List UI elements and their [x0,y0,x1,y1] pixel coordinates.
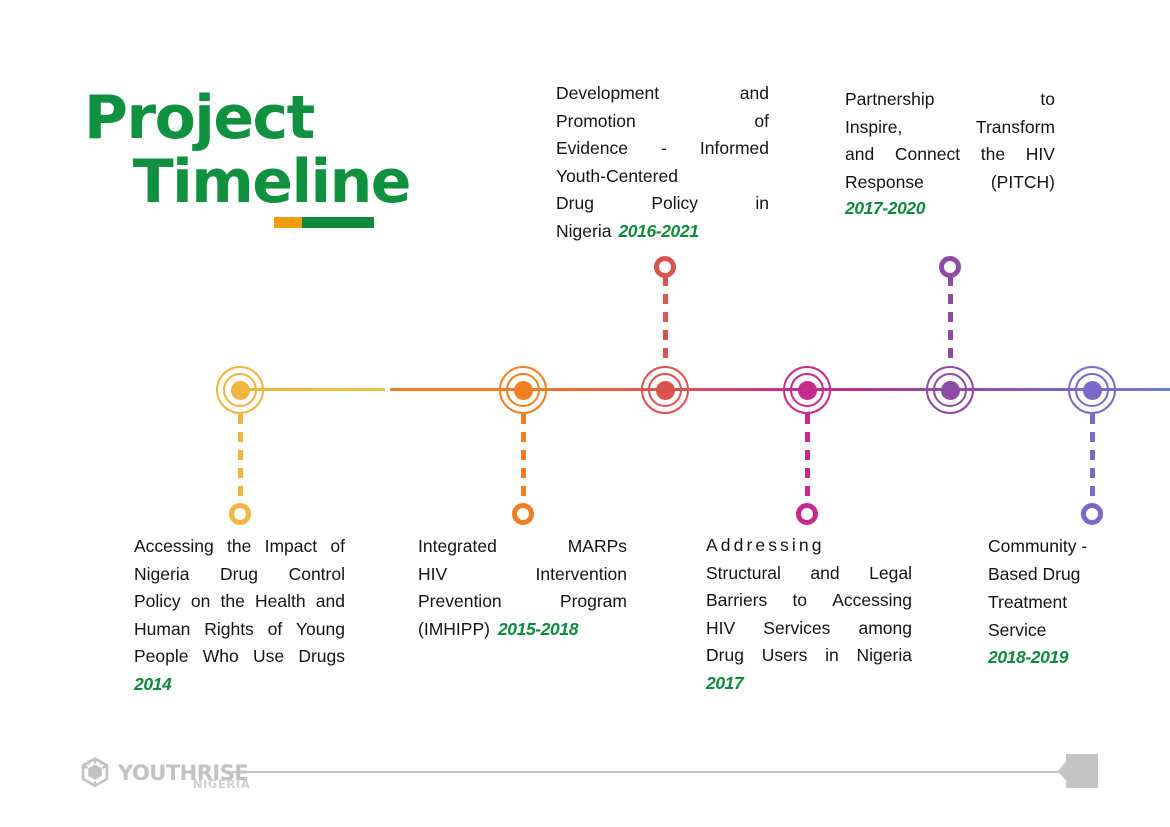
milestone-3-line-5: DrugPolicyin [556,190,769,218]
connector-1 [239,414,241,506]
connector-6 [1091,414,1093,506]
milestone-label-6-block: Community - Based Drug Treatment Service… [988,532,1158,670]
milestone-6-line-2: Based Drug [988,560,1158,588]
page-title-line-2: Timeline [84,150,414,214]
milestone-5-line-2: Inspire,Transform [845,114,1055,142]
timeline-marker-3[interactable] [637,362,693,418]
timeline-marker-1[interactable] [212,362,268,418]
timeline-axis [0,387,1170,393]
milestone-5-line-4: Response(PITCH) [845,169,1055,197]
connector-2 [522,414,524,506]
milestone-1-year: 2014 [134,671,345,697]
title-accent-green [302,217,374,228]
milestone-5-line-3: andConnecttheHIV [845,141,1055,169]
youthrise-logo: YOUTHRISE NIGERIA [78,756,248,790]
connector-pin-3 [654,256,676,278]
timeline-marker-6[interactable] [1064,362,1120,418]
connector-dashes [663,276,668,368]
marker-core [514,381,533,400]
milestone-4-line-2: StructuralandLegal [706,560,912,588]
youthrise-wordmark-sub: NIGERIA [193,779,250,791]
connector-pin-6 [1081,503,1103,525]
marker-core [798,381,817,400]
milestone-1-line-3: PolicyontheHealthand [134,588,345,616]
timeline-marker-4[interactable] [779,362,835,418]
timeline-marker-2[interactable] [495,362,551,418]
connector-dashes [521,414,526,506]
milestone-2-line-3: PreventionProgram [418,588,627,616]
connector-pin-4 [796,503,818,525]
connector-dashes [948,276,953,368]
connector-dashes [238,414,243,506]
milestone-5-line-1: Partnershipto [845,86,1055,114]
milestone-label-4-block: Addressing StructuralandLegal Barriersto… [706,532,912,696]
milestone-3-line-2: Promotionof [556,108,769,136]
milestone-3-year: 2016-2021 [618,218,698,246]
marker-core [231,381,250,400]
connector-5 [949,276,951,368]
milestone-label-5-block: Partnershipto Inspire,Transform andConne… [845,86,1055,220]
connector-3 [664,276,666,368]
youthrise-wordmark: YOUTHRISE NIGERIA [118,763,248,784]
milestone-label-2-block: IntegratedMARPs HIVIntervention Preventi… [418,533,627,643]
milestone-1-line-5: PeopleWhoUseDrugs [134,643,345,671]
connector-pin-5 [939,256,961,278]
milestone-label-1-block: AccessingtheImpactof NigeriaDrugControl … [134,533,345,697]
milestone-2-line-1: IntegratedMARPs [418,533,627,561]
timeline-marker-5[interactable] [922,362,978,418]
title-accent-orange [274,217,302,228]
connector-dashes [805,414,810,506]
footer-divider [232,771,1062,773]
milestone-6-line-4: Service [988,616,1158,644]
milestone-3-line-4: Youth-Centered [556,163,769,191]
milestone-6-year: 2018-2019 [988,644,1158,670]
connector-pin-2 [512,503,534,525]
page-title: Project Timeline [84,86,414,214]
milestone-4-line-1: Addressing [706,532,912,560]
title-accent-bar [274,217,374,228]
marker-core [1083,381,1102,400]
milestone-6-line-3: Treatment [988,588,1158,616]
marker-core [941,381,960,400]
milestone-4-line-4: HIVServicesamong [706,615,912,643]
milestone-label-3-block: Developmentand Promotionof Evidence-Info… [556,80,769,245]
connector-4 [806,414,808,506]
milestone-6-line-1: Community - [988,532,1158,560]
milestone-3-line-1: Developmentand [556,80,769,108]
marker-core [656,381,675,400]
milestone-4-line-3: BarrierstoAccessing [706,587,912,615]
milestone-3-line-6: Nigeria [556,218,611,246]
milestone-1-line-1: AccessingtheImpactof [134,533,345,561]
milestone-1-line-4: HumanRightsofYoung [134,616,345,644]
milestone-3-line-3: Evidence-Informed [556,135,769,163]
milestone-5-year: 2017-2020 [845,196,1055,220]
milestone-2-year: 2015-2018 [498,616,578,644]
milestone-2-line-4: (IMHIPP) [418,616,490,644]
milestone-4-line-5: DrugUsersinNigeria [706,642,912,670]
youthrise-hexagon-icon [78,756,112,790]
milestone-1-line-2: NigeriaDrugControl [134,561,345,589]
milestone-4-year: 2017 [706,670,912,696]
milestone-2-line-2: HIVIntervention [418,561,627,589]
connector-pin-1 [229,503,251,525]
footer-arrow-flag [1066,754,1098,788]
page-title-line-1: Project [84,86,414,150]
connector-dashes [1090,414,1095,506]
